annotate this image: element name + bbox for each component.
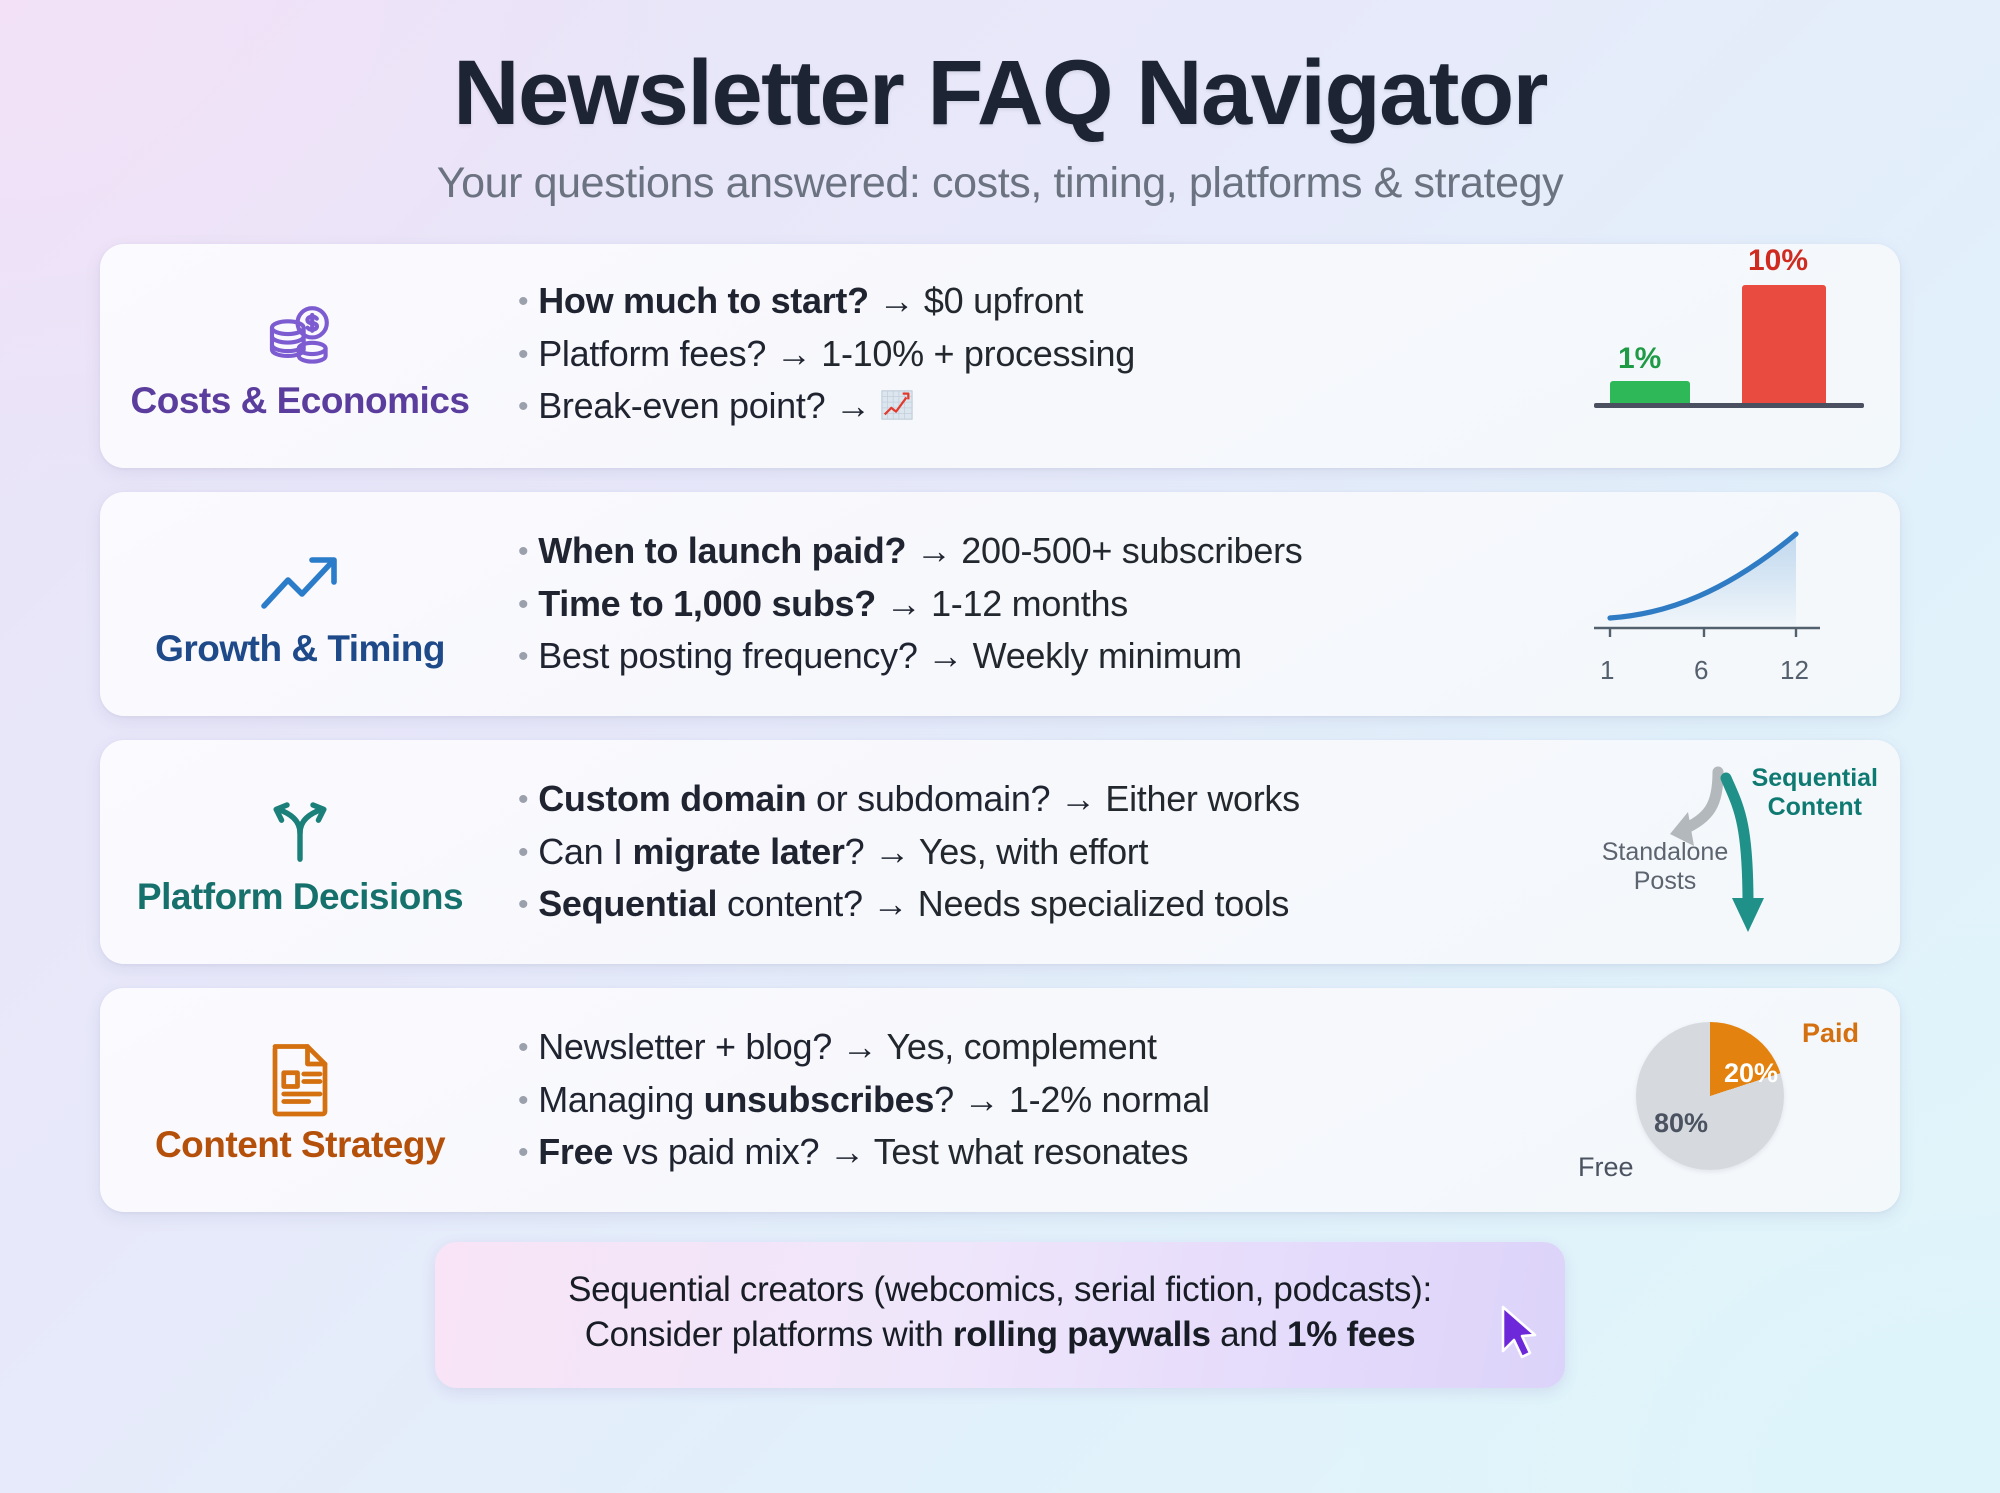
pie-value-paid: 20% — [1724, 1058, 1778, 1089]
pie-value-free: 80% — [1654, 1108, 1708, 1139]
bullet-item: •Free vs paid mix? → Test what resonates — [518, 1126, 1560, 1178]
category-label-platform: Platform Decisions — [137, 876, 463, 918]
bullet-arrow: → — [964, 1079, 1000, 1120]
bullet-answer: 1-12 months — [931, 583, 1128, 624]
faq-card-platform[interactable]: Platform Decisions •Custom domain or sub… — [100, 740, 1900, 964]
bar-value-high: 10% — [1748, 244, 1808, 278]
fork-diagram: Sequential Content Standalone Posts — [1570, 740, 1900, 964]
mouse-cursor-icon — [1497, 1305, 1539, 1366]
mini-line-chart: 1 6 12 — [1570, 492, 1900, 716]
bullet-question: Sequential — [538, 883, 717, 924]
bullet-arrow: → — [916, 530, 952, 571]
footer-banner[interactable]: Sequential creators (webcomics, serial f… — [435, 1242, 1565, 1388]
pie-circle — [1636, 1022, 1784, 1170]
bullet-item: •When to launch paid? → 200-500+ subscri… — [518, 525, 1560, 577]
viz-pie-chart-mix: 20% 80% Paid Free — [1570, 988, 1900, 1212]
bullet-arrow: → — [842, 1026, 878, 1067]
bullet-answer: 200-500+ subscribers — [961, 530, 1302, 571]
bullet-item: •Newsletter + blog? → Yes, complement — [518, 1021, 1560, 1073]
mini-bar-chart: 1% 10% — [1570, 244, 1900, 468]
fork-label-sequential-line2: Content — [1768, 793, 1862, 821]
bullet-answer: 1-2% normal — [1009, 1079, 1210, 1120]
footer-line-2-mid: and — [1211, 1315, 1287, 1354]
bullet-question: Can I — [538, 831, 632, 872]
bullet-answer: 1-10% + processing — [821, 333, 1135, 374]
bar-baseline — [1594, 403, 1864, 408]
bullet-answer: Test what resonates — [874, 1131, 1188, 1172]
fork-label-standalone: Standalone Posts — [1580, 838, 1750, 896]
category-content: Content Strategy — [100, 988, 500, 1212]
bullet-answer: Weekly minimum — [973, 635, 1242, 676]
bullet-dot: • — [518, 285, 528, 318]
fork-label-standalone-line1: Standalone — [1602, 838, 1729, 866]
category-platform: Platform Decisions — [100, 740, 500, 964]
category-label-content: Content Strategy — [155, 1124, 445, 1166]
bullet-dot: • — [518, 338, 528, 371]
bullet-dot: • — [518, 1136, 528, 1169]
bullet-question: Break-even point? — [538, 385, 825, 426]
bullet-item: •Sequential content? → Needs specialized… — [518, 878, 1560, 930]
faq-card-costs[interactable]: Costs & Economics •How much to start? → … — [100, 244, 1900, 468]
bullet-answer: $0 upfront — [924, 280, 1083, 321]
footer-emphasis-fees: 1% fees — [1287, 1315, 1415, 1354]
chart-increasing-emoji-icon — [880, 388, 914, 431]
footer-line-2: Consider platforms with rolling paywalls… — [475, 1313, 1525, 1358]
page-title: Newsletter FAQ Navigator — [0, 42, 2000, 145]
faq-card-list: Costs & Economics •How much to start? → … — [0, 244, 2000, 1212]
bullet-item: •Platform fees? → 1-10% + processing — [518, 328, 1560, 380]
footer-banner-wrap: Sequential creators (webcomics, serial f… — [0, 1242, 2000, 1388]
bullet-arrow: → — [879, 280, 915, 321]
mini-pie-chart: 20% 80% Paid Free — [1570, 988, 1900, 1212]
bullet-dot: • — [518, 390, 528, 423]
bullet-dot: • — [518, 783, 528, 816]
category-growth: Growth & Timing — [100, 492, 500, 716]
viz-growth-curve: 1 6 12 — [1570, 492, 1900, 716]
bar-high — [1742, 285, 1826, 403]
bullet-item: •Can I migrate later? → Yes, with effort — [518, 826, 1560, 878]
growth-curve-svg — [1588, 510, 1858, 670]
xtick-6: 6 — [1694, 655, 1708, 686]
bullet-question-tail: or subdomain? — [806, 778, 1050, 819]
viz-bar-chart-fees: 1% 10% — [1570, 244, 1900, 468]
pie-label-free: Free — [1578, 1152, 1634, 1183]
bullet-question: Custom domain — [538, 778, 806, 819]
bar-value-low: 1% — [1618, 342, 1661, 376]
page-subtitle: Your questions answered: costs, timing, … — [0, 159, 2000, 208]
bullet-item: •Time to 1,000 subs? → 1-12 months — [518, 578, 1560, 630]
viz-branching-diagram: Sequential Content Standalone Posts — [1570, 740, 1900, 964]
faq-card-content[interactable]: Content Strategy •Newsletter + blog? → Y… — [100, 988, 1900, 1212]
bullet-dot: • — [518, 1084, 528, 1117]
category-label-growth: Growth & Timing — [155, 628, 445, 670]
bullet-answer: Yes, complement — [886, 1026, 1156, 1067]
bullet-question: Best posting frequency? — [538, 635, 917, 676]
bullet-arrow: → — [886, 583, 922, 624]
category-costs: Costs & Economics — [100, 244, 500, 468]
bullet-question-emphasis: unsubscribes — [704, 1079, 934, 1120]
xtick-1: 1 — [1600, 655, 1614, 686]
fork-arrows-icon — [261, 792, 339, 870]
footer-emphasis-paywalls: rolling paywalls — [953, 1315, 1211, 1354]
bullet-arrow: → — [927, 635, 963, 676]
bullet-list-content: •Newsletter + blog? → Yes, complement •M… — [500, 1021, 1570, 1178]
bullet-arrow: → — [829, 1131, 865, 1172]
bullet-question: Platform fees? — [538, 333, 766, 374]
bullet-item: •Best posting frequency? → Weekly minimu… — [518, 630, 1560, 682]
bullet-question: Newsletter + blog? — [538, 1026, 832, 1067]
bullet-arrow: → — [872, 883, 908, 924]
bullet-question: Managing — [538, 1079, 703, 1120]
trending-up-icon — [258, 544, 342, 622]
bullet-arrow: → — [874, 831, 910, 872]
bar-low — [1610, 381, 1690, 403]
bullet-answer: Either works — [1105, 778, 1299, 819]
bullet-question-tail: content? — [717, 883, 862, 924]
bullet-dot: • — [518, 888, 528, 921]
bullet-dot: • — [518, 535, 528, 568]
bullet-arrow: → — [1060, 778, 1096, 819]
fork-label-standalone-line2: Posts — [1634, 867, 1697, 895]
bullet-list-growth: •When to launch paid? → 200-500+ subscri… — [500, 525, 1570, 682]
bullet-dot: • — [518, 588, 528, 621]
fork-label-sequential-line1: Sequential — [1752, 764, 1878, 792]
bullet-dot: • — [518, 836, 528, 869]
coins-stack-icon — [261, 296, 339, 374]
bullet-item: •How much to start? → $0 upfront — [518, 275, 1560, 327]
bullet-question-tail: ? — [845, 831, 865, 872]
bullet-question: Free — [538, 1131, 613, 1172]
faq-card-growth[interactable]: Growth & Timing •When to launch paid? → … — [100, 492, 1900, 716]
fork-label-sequential: Sequential Content — [1752, 764, 1878, 822]
document-article-icon — [265, 1040, 335, 1118]
bullet-item: •Custom domain or subdomain? → Either wo… — [518, 773, 1560, 825]
infographic-page: Newsletter FAQ Navigator Your questions … — [0, 0, 2000, 1493]
bullet-question-tail: ? — [934, 1079, 954, 1120]
footer-line-2-pre: Consider platforms with — [585, 1315, 953, 1354]
bullet-dot: • — [518, 1031, 528, 1064]
page-header: Newsletter FAQ Navigator Your questions … — [0, 0, 2000, 208]
bullet-item: •Break-even point? → — [518, 380, 1560, 436]
bullet-question-emphasis: migrate later — [632, 831, 844, 872]
footer-line-1: Sequential creators (webcomics, serial f… — [475, 1268, 1525, 1313]
bullet-list-platform: •Custom domain or subdomain? → Either wo… — [500, 773, 1570, 930]
category-label-costs: Costs & Economics — [131, 380, 470, 422]
xtick-12: 12 — [1780, 655, 1809, 686]
bullet-question-tail: vs paid mix? — [613, 1131, 819, 1172]
bullet-question: Time to 1,000 subs? — [538, 583, 876, 624]
bullet-answer: Yes, with effort — [919, 831, 1148, 872]
bullet-answer: Needs specialized tools — [918, 883, 1289, 924]
bullet-question: When to launch paid? — [538, 530, 906, 571]
bullet-arrow: → — [776, 333, 812, 374]
bullet-item: •Managing unsubscribes? → 1-2% normal — [518, 1074, 1560, 1126]
bullet-question: How much to start? — [538, 280, 869, 321]
bullet-dot: • — [518, 640, 528, 673]
pie-label-paid: Paid — [1802, 1018, 1859, 1049]
bullet-arrow: → — [835, 385, 871, 426]
bullet-list-costs: •How much to start? → $0 upfront •Platfo… — [500, 275, 1570, 436]
